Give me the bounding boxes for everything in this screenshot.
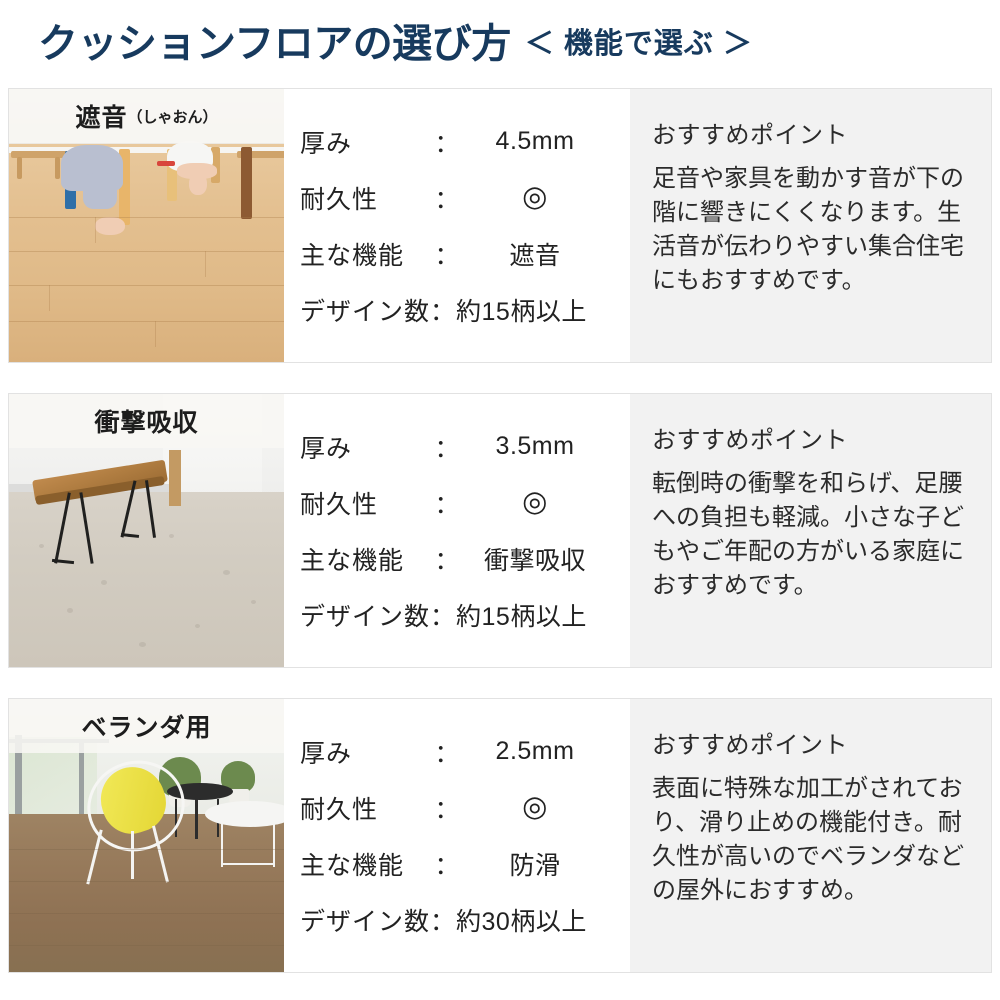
- spec-row-durability: 耐久性 ： ◎: [300, 170, 630, 226]
- card-point-body: 足音や家具を動かす音が下の階に響きにくくなります。生活音が伝わりやすい集合住宅に…: [652, 162, 969, 298]
- spec-colon: ：: [430, 541, 464, 577]
- spec-row-thickness: 厚み ： 2.5mm: [300, 724, 630, 780]
- card-point-title: おすすめポイント: [652, 420, 969, 455]
- spec-value-design-count: 約15柄以上: [446, 597, 630, 633]
- spec-label-durability: 耐久性: [300, 485, 430, 521]
- spec-label-design-count: デザイン数: [300, 597, 430, 633]
- spec-label-thickness: 厚み: [300, 734, 430, 770]
- card-point-panel: おすすめポイント 足音や家具を動かす音が下の階に響きにくくなります。生活音が伝わ…: [630, 89, 991, 362]
- spec-label-thickness: 厚み: [300, 124, 430, 160]
- spec-label-design-count: デザイン数: [300, 292, 430, 328]
- spec-label-main-function: 主な機能: [300, 846, 430, 882]
- spec-label-design-count: デザイン数: [300, 902, 430, 938]
- spec-row-main-function: 主な機能 ： 遮音: [300, 226, 630, 282]
- spec-colon: ：: [430, 180, 464, 216]
- spec-colon: ：: [430, 429, 464, 465]
- spec-value-durability: ◎: [464, 488, 630, 517]
- card-spec-table: 厚み ： 4.5mm 耐久性 ： ◎ 主な機能 ： 遮音 デザイン数 ：: [284, 89, 630, 362]
- spec-row-main-function: 主な機能 ： 防滑: [300, 836, 630, 892]
- feature-card[interactable]: ベランダ用 厚み ： 2.5mm 耐久性 ： ◎ 主な機能 ：: [8, 698, 992, 973]
- feature-card[interactable]: 遮音 （しゃおん） 厚み ： 4.5mm 耐久性 ： ◎ 主な機能 ：: [8, 88, 992, 363]
- spec-row-design-count: デザイン数 ： 約15柄以上: [300, 587, 630, 643]
- page-subtitle: ＜ 機能で選ぶ ＞: [525, 30, 753, 59]
- spec-colon: ：: [430, 292, 446, 328]
- spec-colon: ：: [430, 485, 464, 521]
- spec-row-thickness: 厚み ： 3.5mm: [300, 419, 630, 475]
- spec-label-main-function: 主な機能: [300, 236, 430, 272]
- spec-value-durability: ◎: [464, 793, 630, 822]
- spec-label-durability: 耐久性: [300, 180, 430, 216]
- spec-colon: ：: [430, 790, 464, 826]
- card-photo-label: 遮音 （しゃおん）: [9, 89, 284, 143]
- card-photo: 遮音 （しゃおん）: [9, 89, 284, 362]
- spec-colon: ：: [430, 597, 446, 633]
- spec-value-design-count: 約15柄以上: [446, 292, 630, 328]
- spec-value-main-function: 衝撃吸収: [464, 541, 630, 577]
- card-photo: ベランダ用: [9, 699, 284, 972]
- spec-row-durability: 耐久性 ： ◎: [300, 475, 630, 531]
- spec-value-durability: ◎: [464, 183, 630, 212]
- card-photo-label: ベランダ用: [9, 699, 284, 753]
- card-list: 遮音 （しゃおん） 厚み ： 4.5mm 耐久性 ： ◎ 主な機能 ：: [0, 88, 1000, 973]
- card-photo-label-main: ベランダ用: [81, 708, 211, 744]
- spec-value-thickness: 3.5mm: [464, 432, 630, 461]
- spec-value-thickness: 2.5mm: [464, 737, 630, 766]
- card-spec-table: 厚み ： 2.5mm 耐久性 ： ◎ 主な機能 ： 防滑 デザイン数 ：: [284, 699, 630, 972]
- spec-colon: ：: [430, 124, 464, 160]
- card-point-body: 転倒時の衝撃を和らげ、足腰への負担も軽減。小さな子どもやご年配の方がいる家庭にお…: [652, 467, 969, 603]
- card-point-body: 表面に特殊な加工がされており、滑り止めの機能付き。耐久性が高いのでベランダなどの…: [652, 772, 969, 908]
- spec-value-main-function: 防滑: [464, 846, 630, 882]
- spec-value-thickness: 4.5mm: [464, 127, 630, 156]
- spec-label-main-function: 主な機能: [300, 541, 430, 577]
- page-title: クッションフロアの選び方: [38, 24, 511, 64]
- spec-value-design-count: 約30柄以上: [446, 902, 630, 938]
- page-root: クッションフロアの選び方 ＜ 機能で選ぶ ＞: [0, 0, 1000, 1000]
- spec-colon: ：: [430, 236, 464, 272]
- spec-colon: ：: [430, 902, 446, 938]
- spec-row-design-count: デザイン数 ： 約15柄以上: [300, 282, 630, 338]
- spec-value-main-function: 遮音: [464, 236, 630, 272]
- card-point-panel: おすすめポイント 表面に特殊な加工がされており、滑り止めの機能付き。耐久性が高い…: [630, 699, 991, 972]
- feature-card[interactable]: 衝撃吸収 厚み ： 3.5mm 耐久性 ： ◎ 主な機能 ：: [8, 393, 992, 668]
- card-photo-label-main: 衝撃吸収: [94, 403, 198, 439]
- card-spec-table: 厚み ： 3.5mm 耐久性 ： ◎ 主な機能 ： 衝撃吸収 デザイン数 ：: [284, 394, 630, 667]
- spec-label-durability: 耐久性: [300, 790, 430, 826]
- spec-row-design-count: デザイン数 ： 約30柄以上: [300, 892, 630, 948]
- spec-row-main-function: 主な機能 ： 衝撃吸収: [300, 531, 630, 587]
- card-photo-label: 衝撃吸収: [9, 394, 284, 448]
- card-point-title: おすすめポイント: [652, 725, 969, 760]
- spec-row-thickness: 厚み ： 4.5mm: [300, 114, 630, 170]
- spec-row-durability: 耐久性 ： ◎: [300, 780, 630, 836]
- page-header: クッションフロアの選び方 ＜ 機能で選ぶ ＞: [0, 0, 1000, 88]
- card-photo: 衝撃吸収: [9, 394, 284, 667]
- card-photo-label-sub: （しゃおん）: [128, 106, 218, 127]
- spec-label-thickness: 厚み: [300, 429, 430, 465]
- spec-colon: ：: [430, 734, 464, 770]
- card-point-panel: おすすめポイント 転倒時の衝撃を和らげ、足腰への負担も軽減。小さな子どもやご年配…: [630, 394, 991, 667]
- spec-colon: ：: [430, 846, 464, 882]
- card-photo-label-main: 遮音: [75, 98, 127, 134]
- card-point-title: おすすめポイント: [652, 115, 969, 150]
